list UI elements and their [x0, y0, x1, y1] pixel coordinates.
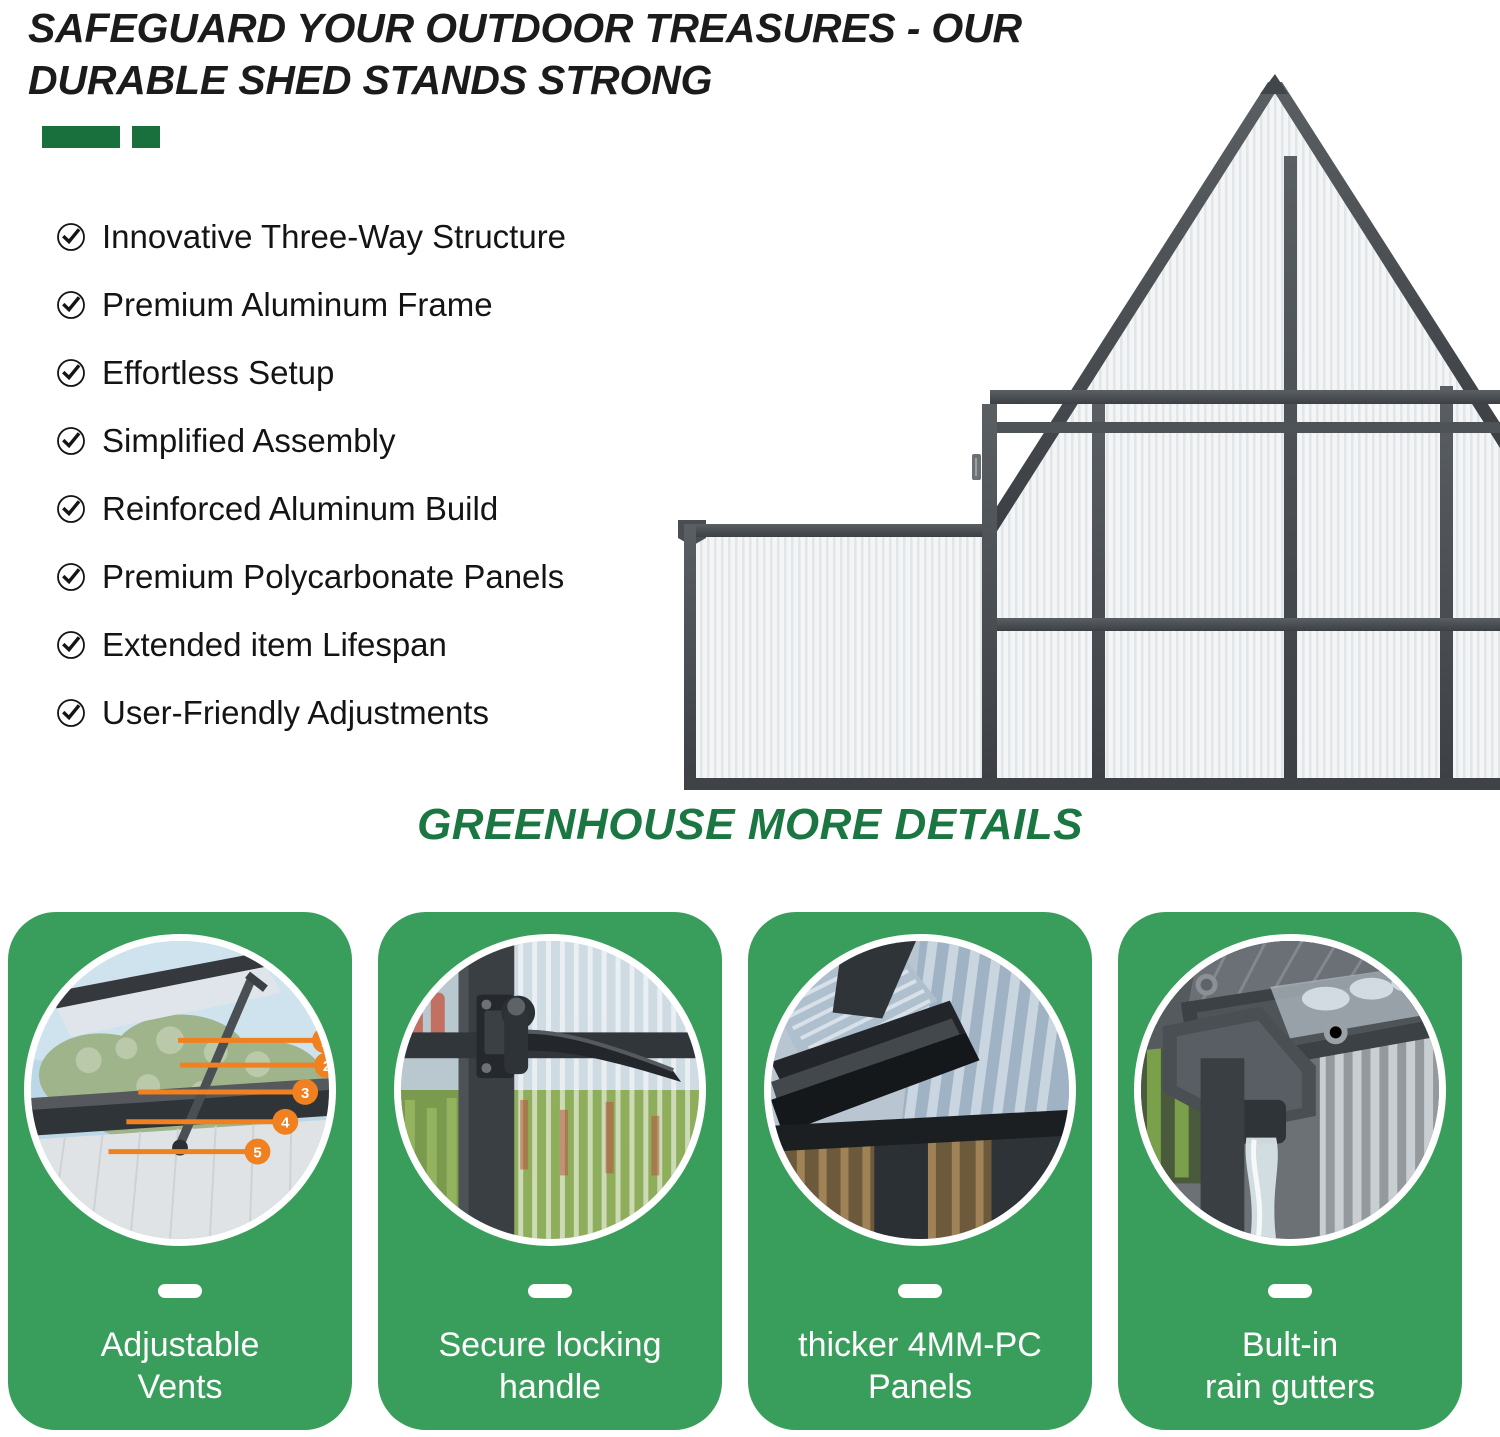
details-section-title: GREENHOUSE MORE DETAILS: [0, 800, 1500, 850]
check-circle-icon: [56, 358, 86, 388]
locking-handle-photo: [394, 934, 706, 1246]
card-divider-pill: [158, 1284, 202, 1298]
card-divider-pill: [1268, 1284, 1312, 1298]
card-divider-pill: [528, 1284, 572, 1298]
card-label: Secure locking handle: [378, 1324, 722, 1408]
feature-label: Simplified Assembly: [102, 423, 395, 459]
feature-label: Extended item Lifespan: [102, 627, 447, 663]
check-circle-icon: [56, 698, 86, 728]
feature-item: Effortless Setup: [56, 339, 716, 407]
svg-text:2: 2: [323, 1059, 329, 1075]
hero-section: SAFEGUARD YOUR OUTDOOR TREASURES - OUR D…: [0, 0, 1500, 790]
check-circle-icon: [56, 630, 86, 660]
svg-text:3: 3: [301, 1086, 309, 1102]
card-label: Bult-in rain gutters: [1118, 1324, 1462, 1408]
check-circle-icon: [56, 426, 86, 456]
check-circle-icon: [56, 494, 86, 524]
card-label: Adjustable Vents: [8, 1324, 352, 1408]
feature-label: Effortless Setup: [102, 355, 334, 391]
accent-bar-small: [132, 126, 160, 148]
feature-item: Premium Aluminum Frame: [56, 271, 716, 339]
check-circle-icon: [56, 222, 86, 252]
detail-card-rain-gutters[interactable]: Bult-in rain gutters: [1118, 912, 1462, 1430]
svg-text:5: 5: [253, 1146, 261, 1162]
svg-text:1: 1: [321, 1034, 329, 1050]
detail-card-pc-panels[interactable]: thicker 4MM-PC Panels: [748, 912, 1092, 1430]
feature-item: Reinforced Aluminum Build: [56, 475, 716, 543]
feature-item: Extended item Lifespan: [56, 611, 716, 679]
greenhouse-gable-illustration: [672, 30, 1500, 790]
feature-label: Reinforced Aluminum Build: [102, 491, 498, 527]
rain-gutter-photo: [1134, 934, 1446, 1246]
feature-list: Innovative Three-Way Structure Premium A…: [56, 203, 716, 747]
svg-text:4: 4: [281, 1116, 290, 1132]
feature-item: User-Friendly Adjustments: [56, 679, 716, 747]
polycarbonate-panel-photo: [764, 934, 1076, 1246]
feature-label: User-Friendly Adjustments: [102, 695, 489, 731]
feature-item: Simplified Assembly: [56, 407, 716, 475]
card-label: thicker 4MM-PC Panels: [748, 1324, 1092, 1408]
feature-item: Premium Polycarbonate Panels: [56, 543, 716, 611]
feature-label: Innovative Three-Way Structure: [102, 219, 566, 255]
adjustable-vent-photo: 12 34 5: [24, 934, 336, 1246]
feature-item: Innovative Three-Way Structure: [56, 203, 716, 271]
card-divider-pill: [898, 1284, 942, 1298]
feature-label: Premium Polycarbonate Panels: [102, 559, 564, 595]
check-circle-icon: [56, 290, 86, 320]
detail-card-adjustable-vents[interactable]: 12 34 5 Adjustable Vents: [8, 912, 352, 1430]
feature-label: Premium Aluminum Frame: [102, 287, 493, 323]
check-circle-icon: [56, 562, 86, 592]
detail-card-row: 12 34 5 Adjustable Vents: [0, 912, 1500, 1432]
accent-bar-wide: [42, 126, 120, 148]
product-feature-page: SAFEGUARD YOUR OUTDOOR TREASURES - OUR D…: [0, 0, 1500, 1437]
detail-card-secure-locking-handle[interactable]: Secure locking handle: [378, 912, 722, 1430]
accent-bar-group: [42, 126, 160, 148]
